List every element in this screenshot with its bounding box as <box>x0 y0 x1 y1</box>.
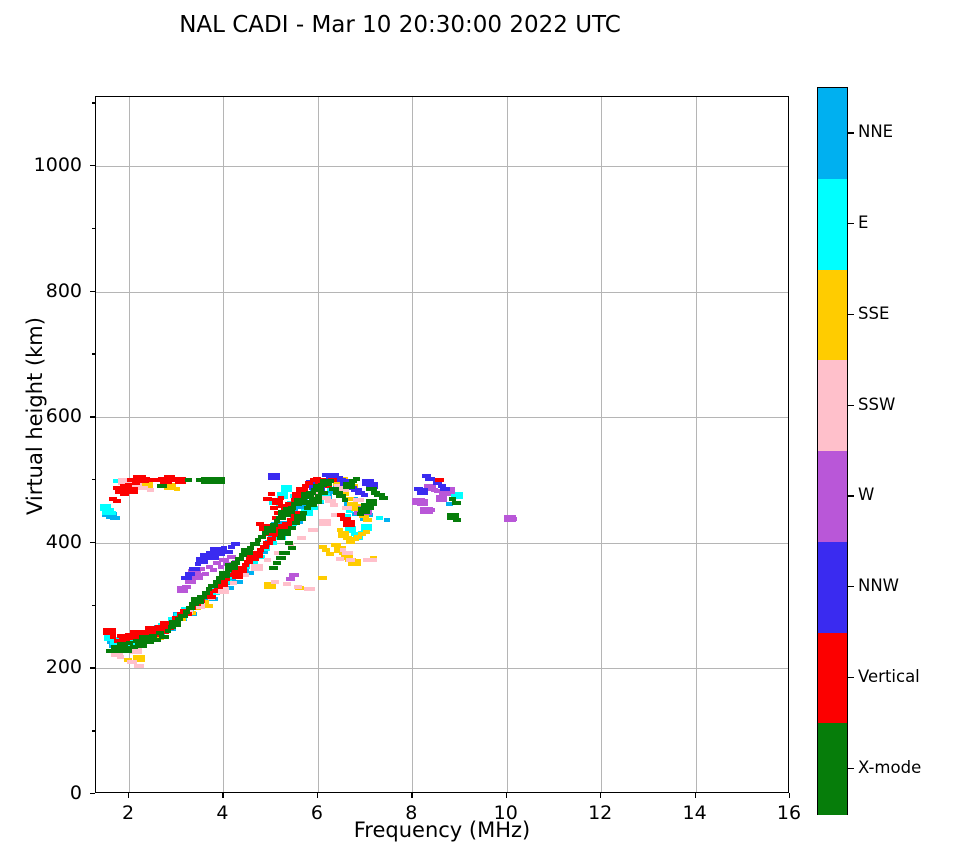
y-axis-tick <box>90 165 95 166</box>
colorbar-label-nnw: NNW <box>858 576 899 595</box>
data-mark <box>159 635 169 639</box>
data-mark <box>363 518 372 522</box>
data-mark <box>206 587 212 591</box>
data-mark <box>126 487 138 494</box>
colorbar-segment-w[interactable] <box>818 451 847 542</box>
colorbar-segment-nne[interactable] <box>818 88 847 179</box>
data-mark <box>235 557 244 561</box>
data-mark <box>270 506 278 510</box>
y-axis-tick-label: 200 <box>17 656 82 678</box>
x-axis-tick <box>411 793 412 798</box>
colorbar-segment-x-mode[interactable] <box>818 723 847 814</box>
data-mark <box>147 488 154 492</box>
data-mark <box>242 563 249 567</box>
data-mark <box>213 580 221 584</box>
data-mark <box>197 595 207 599</box>
data-mark <box>263 541 273 545</box>
data-mark <box>269 566 278 570</box>
data-mark <box>370 558 377 562</box>
data-mark <box>319 519 331 526</box>
data-mark <box>440 487 450 491</box>
colorbar-label-w: W <box>858 485 874 504</box>
data-mark <box>510 517 517 521</box>
data-mark <box>183 610 190 614</box>
data-mark <box>435 478 444 482</box>
colorbar-tick <box>848 586 854 587</box>
data-mark <box>286 577 295 581</box>
gridline-horizontal <box>96 166 788 167</box>
gridline-horizontal <box>96 292 788 293</box>
data-mark <box>177 586 188 593</box>
gridline-vertical <box>412 97 413 792</box>
colorbar-label-x-mode: X-mode <box>858 758 921 777</box>
data-mark <box>363 530 370 534</box>
data-mark <box>376 516 383 520</box>
data-mark <box>110 516 120 520</box>
data-mark <box>304 587 315 591</box>
data-mark <box>267 537 276 541</box>
data-mark <box>453 518 461 522</box>
colorbar-segment-ssw[interactable] <box>818 360 847 451</box>
data-mark <box>277 536 285 540</box>
data-mark <box>202 591 210 595</box>
gridline-vertical <box>696 97 697 792</box>
data-mark <box>268 473 280 480</box>
gridline-horizontal <box>96 417 788 418</box>
data-mark <box>255 538 261 542</box>
gridline-vertical <box>129 97 130 792</box>
x-axis-tick <box>789 793 790 798</box>
data-mark <box>426 508 435 512</box>
data-mark <box>231 561 240 565</box>
data-mark <box>106 511 116 515</box>
data-mark <box>230 581 237 585</box>
data-mark <box>285 541 293 545</box>
x-axis-tick <box>600 793 601 798</box>
colorbar-label-e: E <box>858 213 868 232</box>
data-mark <box>452 501 461 505</box>
data-mark <box>202 572 209 576</box>
data-mark <box>186 606 195 610</box>
data-mark <box>213 477 225 484</box>
data-mark <box>326 479 334 483</box>
data-mark <box>113 499 121 503</box>
colorbar-segment-nnw[interactable] <box>818 542 847 633</box>
data-mark <box>294 585 302 589</box>
x-axis-tick <box>506 793 507 798</box>
colorbar-label-nne: NNE <box>858 122 893 141</box>
data-mark <box>308 528 318 532</box>
colorbar[interactable] <box>817 87 848 815</box>
y-axis-minor-tick <box>92 730 95 731</box>
data-mark <box>251 564 263 571</box>
data-mark <box>279 551 290 555</box>
x-axis-tick <box>128 793 129 798</box>
data-mark <box>232 572 243 579</box>
data-mark <box>178 614 188 618</box>
data-mark <box>315 494 322 498</box>
data-mark <box>353 498 364 502</box>
data-mark <box>346 558 355 562</box>
colorbar-tick <box>848 768 854 769</box>
data-mark <box>436 495 447 502</box>
colorbar-segment-vertical[interactable] <box>818 633 847 724</box>
data-mark <box>361 493 368 497</box>
data-mark <box>134 664 144 668</box>
x-axis-tick <box>317 793 318 798</box>
gridline-vertical <box>318 97 319 792</box>
colorbar-tick <box>848 677 854 678</box>
data-mark <box>283 582 291 586</box>
data-mark <box>318 491 328 495</box>
data-mark <box>337 513 345 517</box>
data-mark <box>330 503 338 507</box>
data-mark <box>157 484 167 488</box>
y-axis-tick <box>90 667 95 668</box>
data-mark <box>289 573 299 577</box>
colorbar-tick <box>848 223 854 224</box>
data-mark <box>342 498 348 502</box>
data-mark <box>363 558 370 562</box>
data-mark <box>322 548 330 552</box>
data-mark <box>417 488 428 495</box>
data-mark <box>297 536 306 540</box>
gridline-vertical <box>223 97 224 792</box>
data-mark <box>268 492 275 496</box>
data-mark <box>185 580 196 584</box>
data-mark <box>288 546 296 550</box>
data-mark <box>212 589 218 593</box>
data-mark <box>210 568 217 572</box>
y-axis-minor-tick <box>92 479 95 480</box>
data-mark <box>278 529 291 536</box>
data-mark <box>174 487 180 491</box>
data-mark <box>264 558 271 562</box>
data-mark <box>223 550 233 554</box>
data-mark <box>274 519 280 523</box>
figure-canvas: NAL CADI - Mar 10 20:30:00 2022 UTC 0200… <box>0 0 958 857</box>
data-mark <box>260 545 269 549</box>
data-mark <box>181 576 192 580</box>
y-axis-tick <box>90 291 95 292</box>
data-mark <box>288 506 296 510</box>
data-mark <box>205 604 213 608</box>
data-mark <box>300 511 307 515</box>
gridline-vertical <box>601 97 602 792</box>
data-mark <box>175 617 183 621</box>
data-mark <box>292 521 300 525</box>
chart-title: NAL CADI - Mar 10 20:30:00 2022 UTC <box>0 12 800 38</box>
data-mark <box>185 478 192 482</box>
data-mark <box>343 520 355 527</box>
x-axis-tick <box>695 793 696 798</box>
colorbar-tick <box>848 132 854 133</box>
y-axis-tick <box>90 542 95 543</box>
data-mark <box>281 485 292 492</box>
data-mark <box>319 545 327 549</box>
y-axis-label: Virtual height (km) <box>23 236 47 596</box>
y-axis-tick <box>90 416 95 417</box>
colorbar-tick <box>848 495 854 496</box>
y-axis-tick-label: 0 <box>17 782 82 804</box>
colorbar-segment-sse[interactable] <box>818 270 847 361</box>
gridline-horizontal <box>96 543 788 544</box>
gridline-horizontal <box>96 668 788 669</box>
y-axis-minor-tick <box>92 102 95 103</box>
data-mark <box>117 655 124 659</box>
data-mark <box>165 629 171 633</box>
data-mark <box>276 556 286 560</box>
data-mark <box>270 523 278 527</box>
data-mark <box>278 496 284 500</box>
data-mark <box>207 595 216 599</box>
y-axis-tick-label: 1000 <box>17 154 82 176</box>
data-mark <box>247 546 254 550</box>
colorbar-label-sse: SSE <box>858 304 889 323</box>
data-mark <box>273 561 281 565</box>
data-mark <box>342 506 352 510</box>
colorbar-label-vertical: Vertical <box>858 667 920 686</box>
data-mark <box>302 484 309 488</box>
data-mark <box>417 499 428 506</box>
colorbar-tick <box>848 405 854 406</box>
data-mark <box>357 512 364 516</box>
data-mark <box>336 557 344 561</box>
plot-axes[interactable] <box>95 96 789 793</box>
data-mark <box>340 548 346 552</box>
x-axis-label: Frequency (MHz) <box>95 818 789 842</box>
data-mark <box>326 552 334 556</box>
colorbar-tick <box>848 314 854 315</box>
data-mark <box>318 576 327 580</box>
colorbar-label-ssw: SSW <box>858 395 895 414</box>
data-mark <box>379 496 388 500</box>
data-mark <box>208 584 218 588</box>
x-axis-tick <box>222 793 223 798</box>
data-mark <box>258 535 266 539</box>
data-mark <box>257 548 264 552</box>
data-mark <box>294 514 306 521</box>
data-mark <box>353 477 360 481</box>
colorbar-segment-e[interactable] <box>818 179 847 270</box>
data-mark <box>189 567 200 571</box>
data-mark <box>250 542 260 546</box>
y-axis-minor-tick <box>92 228 95 229</box>
y-axis-minor-tick <box>92 605 95 606</box>
y-axis-tick <box>90 793 95 794</box>
y-axis-minor-tick <box>92 353 95 354</box>
data-mark <box>231 542 240 546</box>
data-mark <box>384 518 390 522</box>
data-mark <box>263 497 272 501</box>
gridline-vertical <box>507 97 508 792</box>
data-mark <box>271 580 279 584</box>
